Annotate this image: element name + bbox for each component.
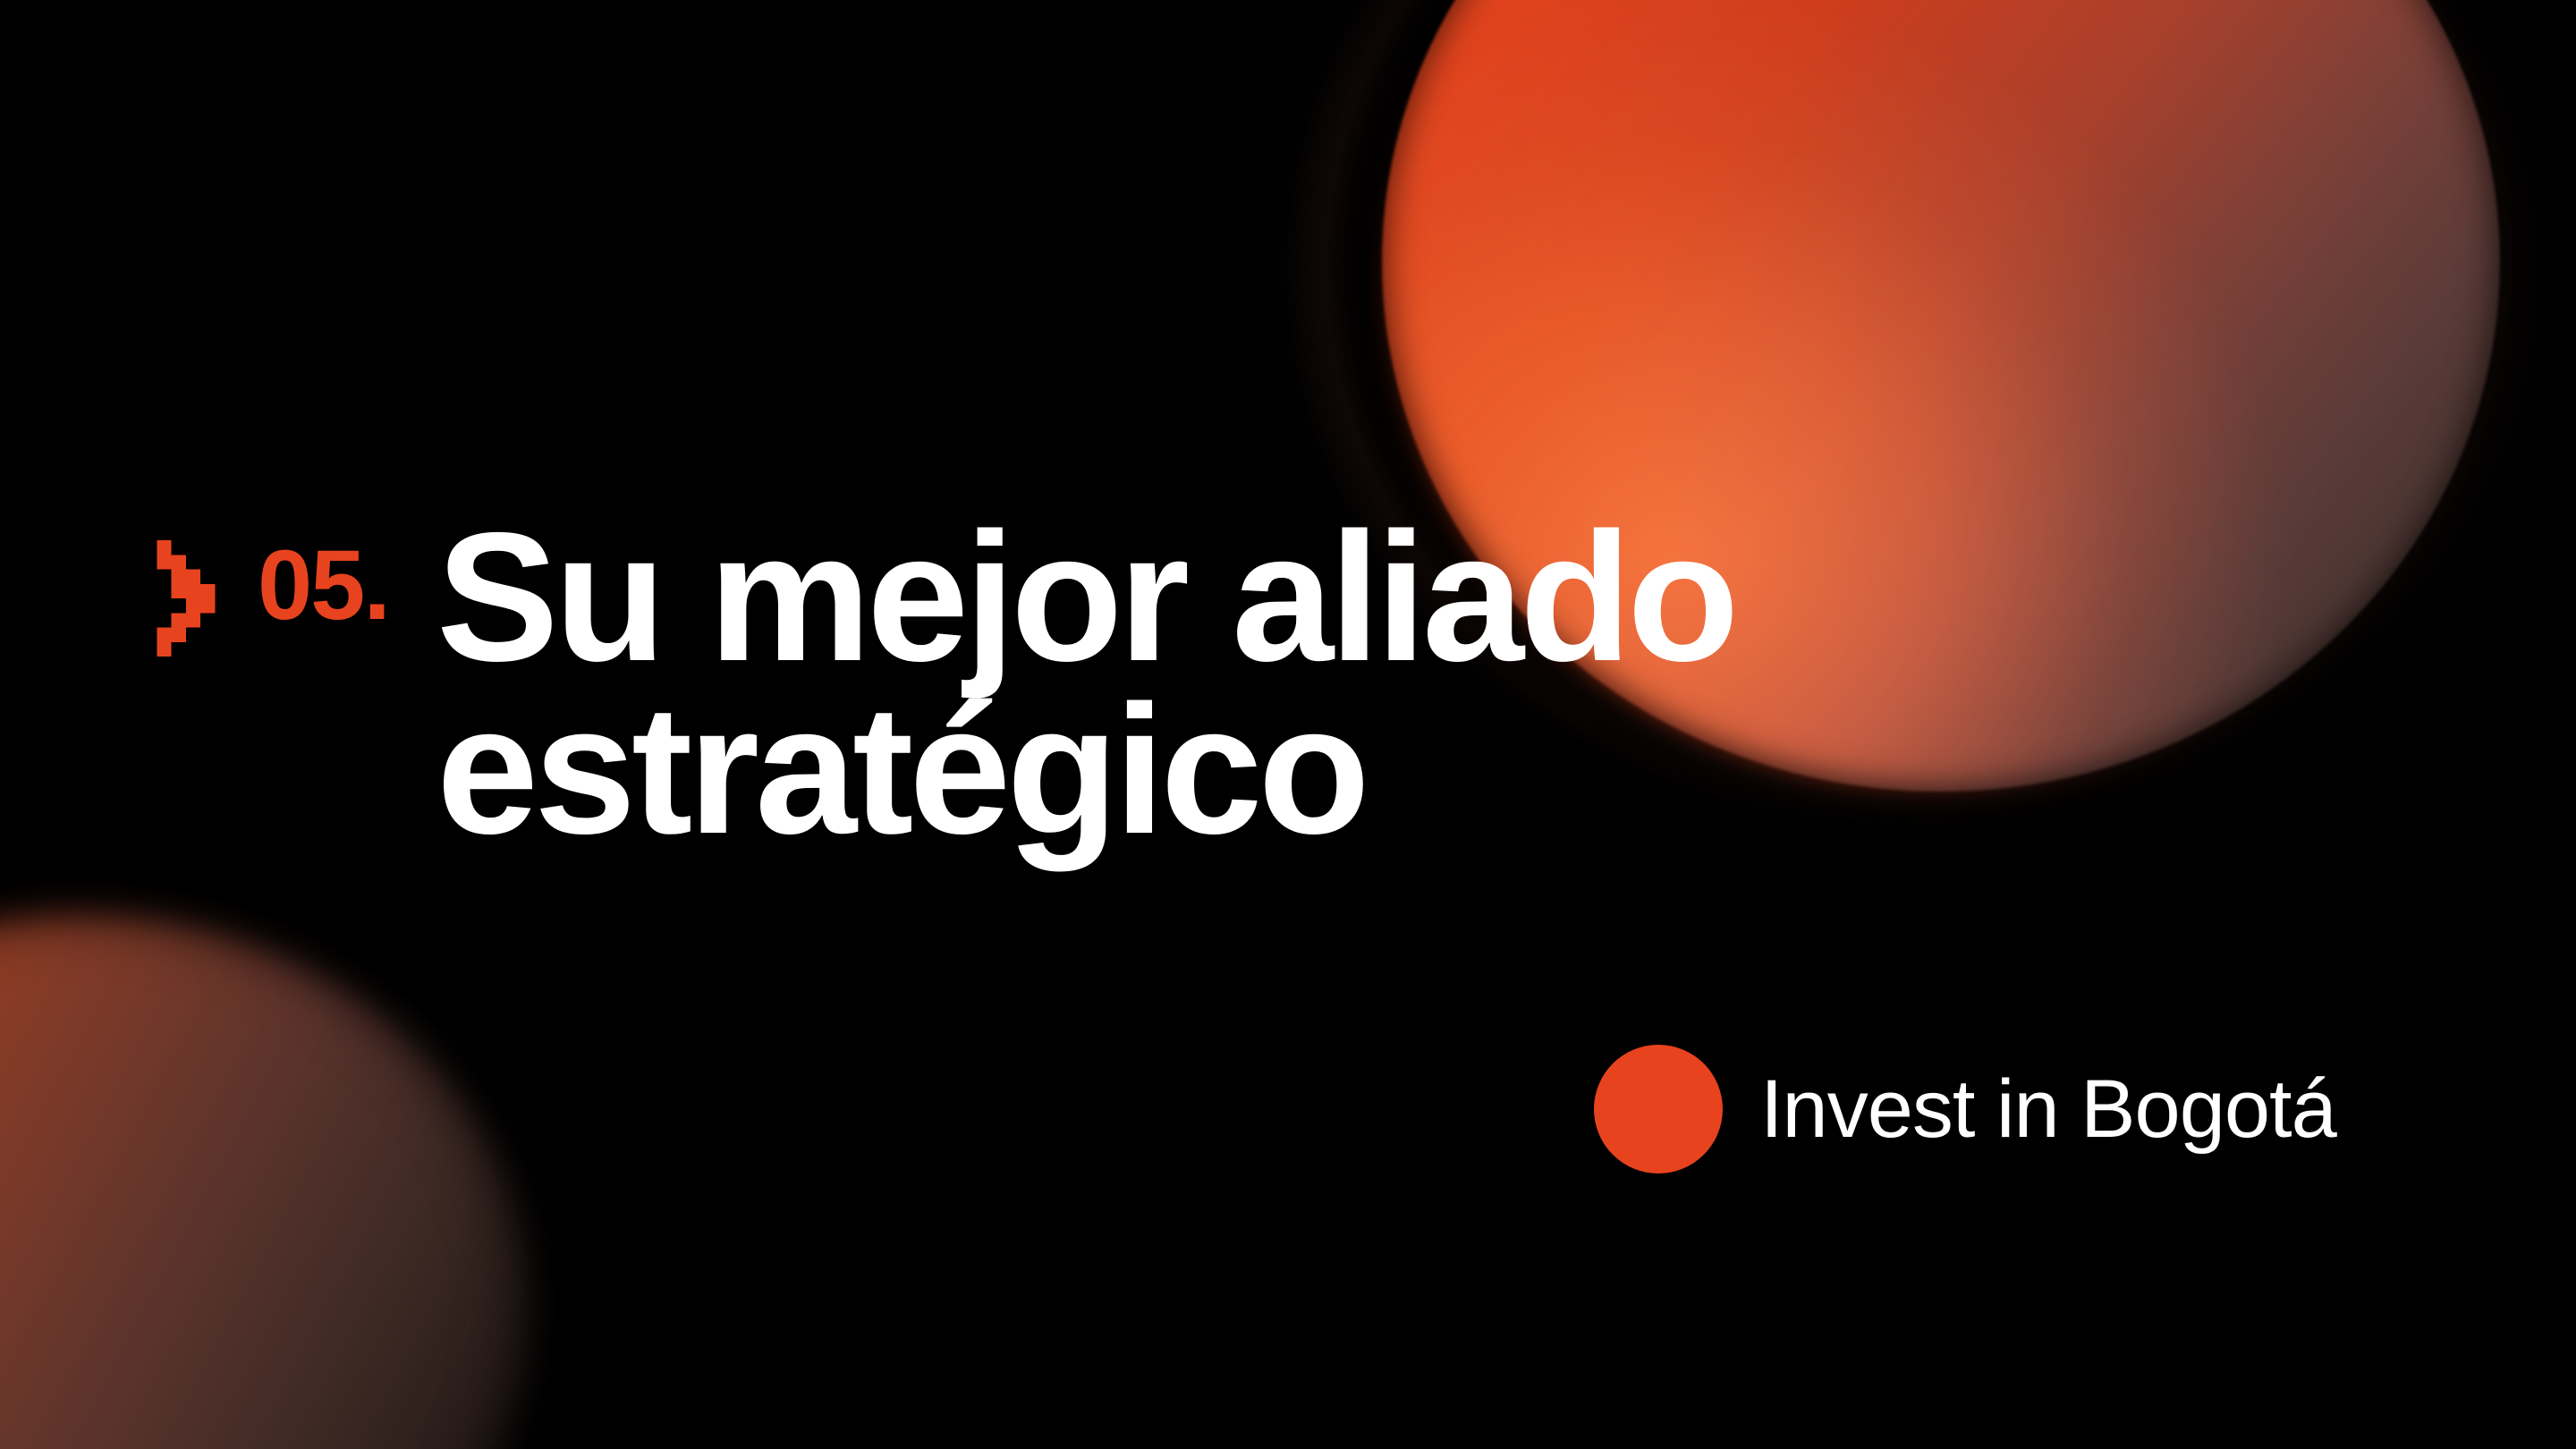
section-number: 05. (258, 540, 389, 631)
slide-headline: Su mejor aliado estratégico (436, 512, 2225, 856)
slide-content: 05. Su mejor aliado estratégico Invest i… (0, 0, 2576, 1449)
brand-name: Invest in Bogotá (1760, 1068, 2336, 1150)
pixel-arrow-right-icon (156, 540, 245, 657)
presentation-slide: 05. Su mejor aliado estratégico Invest i… (0, 0, 2576, 1449)
section-eyebrow: 05. (156, 540, 389, 657)
brand-circle-icon (1594, 1045, 1723, 1174)
brand-logo-lockup: Invest in Bogotá (1594, 1045, 2336, 1174)
